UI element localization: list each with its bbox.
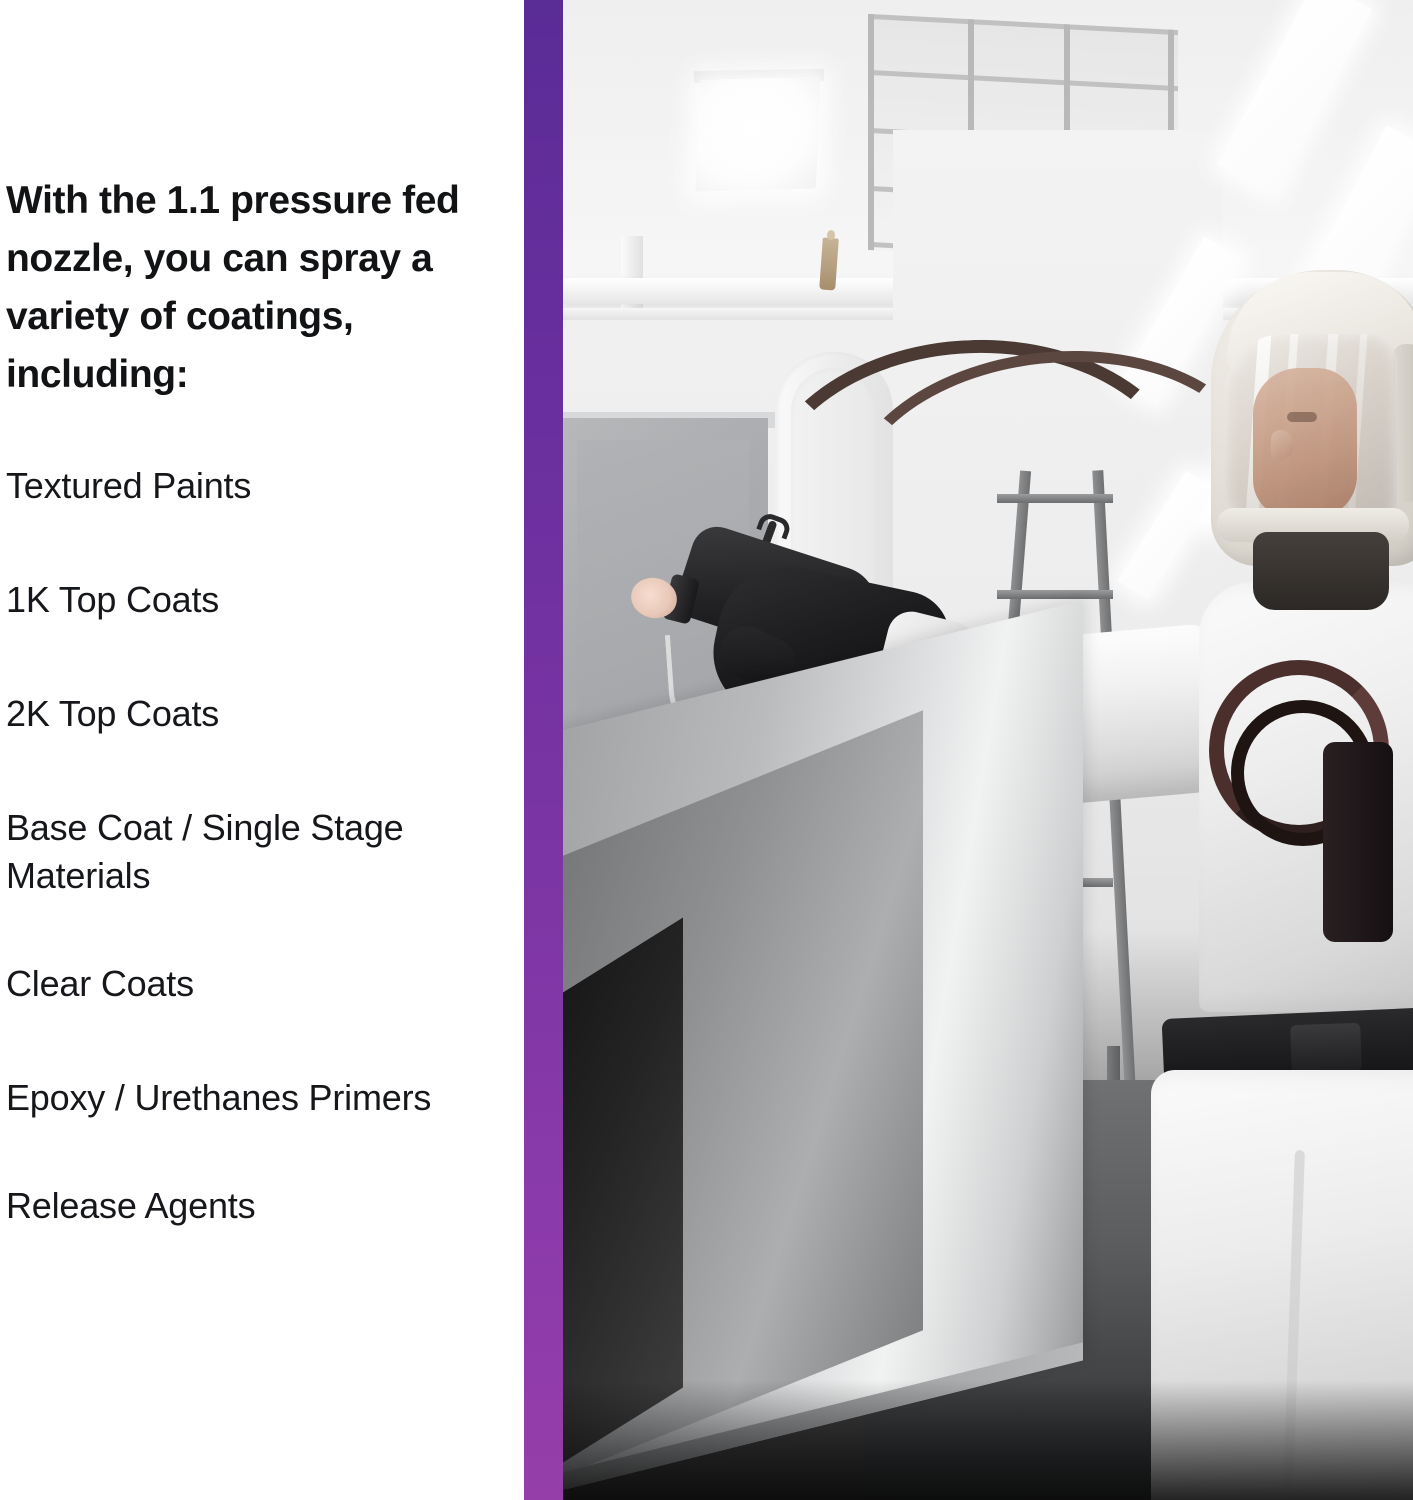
list-item: Release Agents: [6, 1182, 476, 1230]
purple-gradient-divider: [524, 0, 563, 1500]
list-item: 1K Top Coats: [6, 576, 476, 624]
ceiling-light-panel-icon: [695, 76, 820, 191]
respirator-neck-shroud: [1253, 532, 1389, 610]
painter-face: [1253, 368, 1357, 518]
list-item: Clear Coats: [6, 960, 476, 1008]
coatings-list: Textured Paints 1K Top Coats 2K Top Coat…: [6, 462, 476, 1230]
painter-nose: [1271, 430, 1293, 460]
photo-panel: [563, 0, 1413, 1500]
list-item: Base Coat / Single Stage Materials: [6, 804, 476, 900]
list-item: Epoxy / Urethanes Primers: [6, 1074, 476, 1122]
painter-eye: [1287, 412, 1317, 422]
list-item: Textured Paints: [6, 462, 476, 510]
belt-buckle: [1290, 1023, 1362, 1073]
text-panel: With the 1.1 pressure fed nozzle, you ca…: [0, 0, 524, 1500]
list-item: 2K Top Coats: [6, 690, 476, 738]
promo-layout: With the 1.1 pressure fed nozzle, you ca…: [0, 0, 1413, 1500]
floor-shadow: [563, 1380, 1413, 1500]
hose-tail: [1323, 742, 1393, 942]
page-title: With the 1.1 pressure fed nozzle, you ca…: [6, 172, 476, 404]
spray-booth-photo: [563, 0, 1413, 1500]
